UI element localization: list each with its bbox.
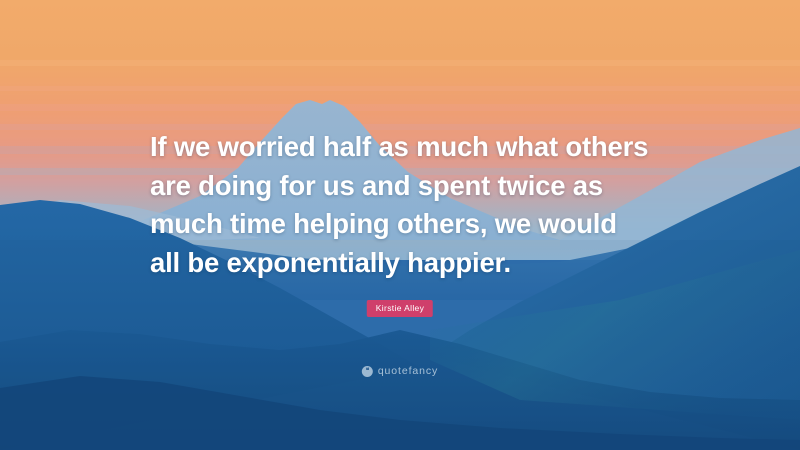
watermark: ❝ quotefancy	[362, 366, 438, 377]
quote-mark-glyph: ❝	[366, 368, 369, 375]
watermark-label: quotefancy	[378, 366, 438, 377]
quote-mark-icon: ❝	[362, 366, 373, 377]
quote-text: If we worried half as much what others a…	[150, 128, 652, 282]
quote-overlay: If we worried half as much what others a…	[0, 0, 800, 450]
quote-image-card: If we worried half as much what others a…	[0, 0, 800, 450]
author-badge: Kirstie Alley	[367, 300, 433, 317]
